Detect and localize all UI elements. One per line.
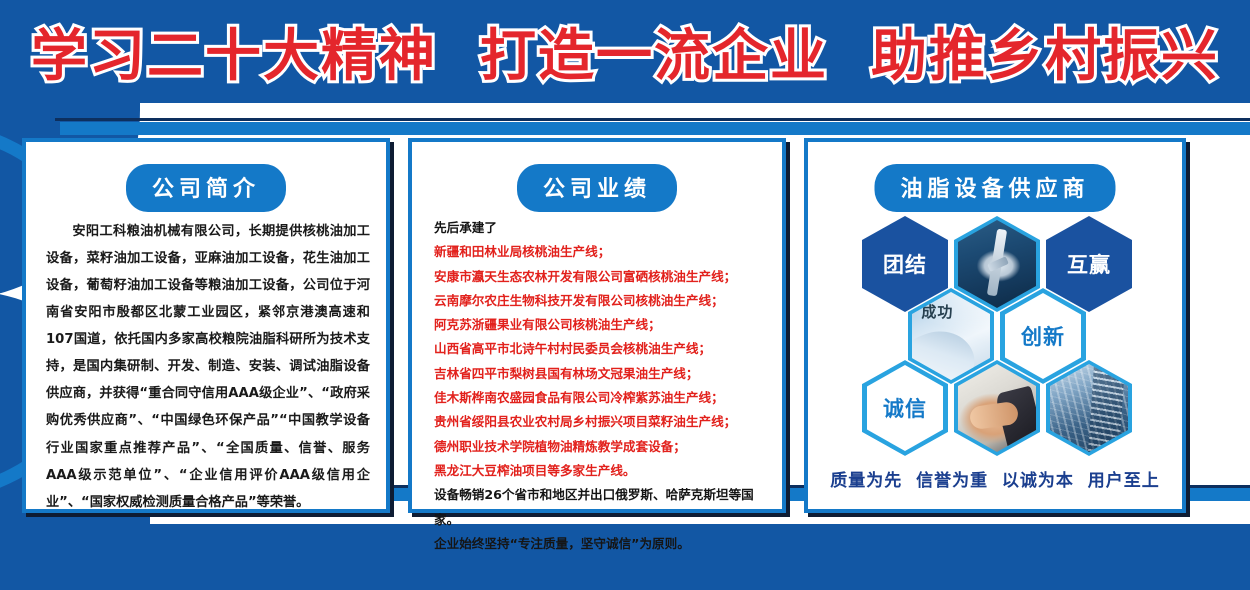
- performance-lead: 先后承建了: [434, 216, 768, 240]
- panel-company-performance: 公司业绩 先后承建了 新疆和田林业局核桃油生产线； 安康市瀛天生态农林开发有限公…: [408, 138, 786, 513]
- panel-title-text-supplier: 油脂设备供应商: [900, 177, 1089, 202]
- list-item: 佳木斯桦南农盛园食品有限公司冷榨紫苏油生产线；: [434, 386, 768, 410]
- hexagon-label-unity: 团结: [883, 249, 927, 279]
- panel-title-badge-supplier: 油脂设备供应商: [874, 164, 1115, 212]
- company-profile-body: 安阳工科粮油机械有限公司，长期提供核桃油加工设备，菜籽油加工设备，亚麻油加工设备…: [46, 218, 370, 516]
- list-item: 阿克苏浙疆果业有限公司核桃油生产线；: [434, 313, 768, 337]
- panel-company-profile: 公司简介 安阳工科粮油机械有限公司，长期提供核桃油加工设备，菜籽油加工设备，亚麻…: [22, 138, 390, 513]
- list-item: 贵州省绥阳县农业农村局乡村振兴项目菜籽油生产线；: [434, 410, 768, 434]
- list-item: 吉林省四平市梨树县国有林场文冠果油生产线；: [434, 362, 768, 386]
- top-accent-stripe: [60, 122, 1250, 135]
- top-hairline: [55, 118, 1250, 121]
- supplier-slogan: 质量为先 信誉为重 以诚为本 用户至上: [808, 466, 1182, 491]
- skyscraper-icon: [1050, 364, 1128, 452]
- poster-title: 学习二十大精神 打造一流企业 助推乡村振兴: [0, 0, 1250, 103]
- aircraft-carrier-icon: [958, 220, 1036, 308]
- hexagon-cluster: 团结 互赢 创新 诚信: [808, 208, 1182, 448]
- list-item: 新疆和田林业局核桃油生产线；: [434, 240, 768, 264]
- poster-stage: 学习二十大精神 打造一流企业 助推乡村振兴 公司简介 安阳工科粮油机械有限公司，…: [0, 0, 1250, 590]
- panel-title-text-profile: 公司简介: [152, 177, 260, 202]
- list-item: 安康市瀛天生态农林开发有限公司富硒核桃油生产线；: [434, 265, 768, 289]
- panel-row: 公司简介 安阳工科粮油机械有限公司，长期提供核桃油加工设备，菜籽油加工设备，亚麻…: [0, 138, 1250, 513]
- hexagon-label-innovation: 创新: [1021, 321, 1065, 351]
- panel-title-badge-profile: 公司简介: [126, 164, 286, 212]
- performance-tail-line: 企业始终坚持“专注质量，坚守诚信”为原则。: [434, 532, 768, 556]
- poster-title-text: 学习二十大精神 打造一流企业 助推乡村振兴: [31, 11, 1219, 92]
- handshake-icon: [958, 364, 1036, 452]
- hexagon-label-integrity: 诚信: [883, 393, 927, 423]
- panel-oil-equipment-supplier: 油脂设备供应商 团结 互赢 创新: [804, 138, 1186, 513]
- panel-title-badge-performance: 公司业绩: [517, 164, 677, 212]
- list-item: 山西省高平市北诗午村村民委员会核桃油生产线；: [434, 337, 768, 361]
- performance-list: 先后承建了 新疆和田林业局核桃油生产线； 安康市瀛天生态农林开发有限公司富硒核桃…: [434, 216, 768, 556]
- panel-title-text-performance: 公司业绩: [543, 177, 651, 202]
- list-item: 黑龙江大豆榨油项目等多家生产线。: [434, 459, 768, 483]
- hexagon-label-mutual-win: 互赢: [1067, 249, 1111, 279]
- company-profile-paragraph: 安阳工科粮油机械有限公司，长期提供核桃油加工设备，菜籽油加工设备，亚麻油加工设备…: [46, 218, 370, 516]
- list-item: 德州职业技术学院植物油精炼教学成套设备；: [434, 435, 768, 459]
- success-mountain-icon: [912, 292, 990, 380]
- list-item: 云南摩尔农庄生物科技开发有限公司核桃油生产线；: [434, 289, 768, 313]
- performance-tail-line: 设备畅销26个省市和地区并出口俄罗斯、哈萨克斯坦等国家。: [434, 483, 768, 532]
